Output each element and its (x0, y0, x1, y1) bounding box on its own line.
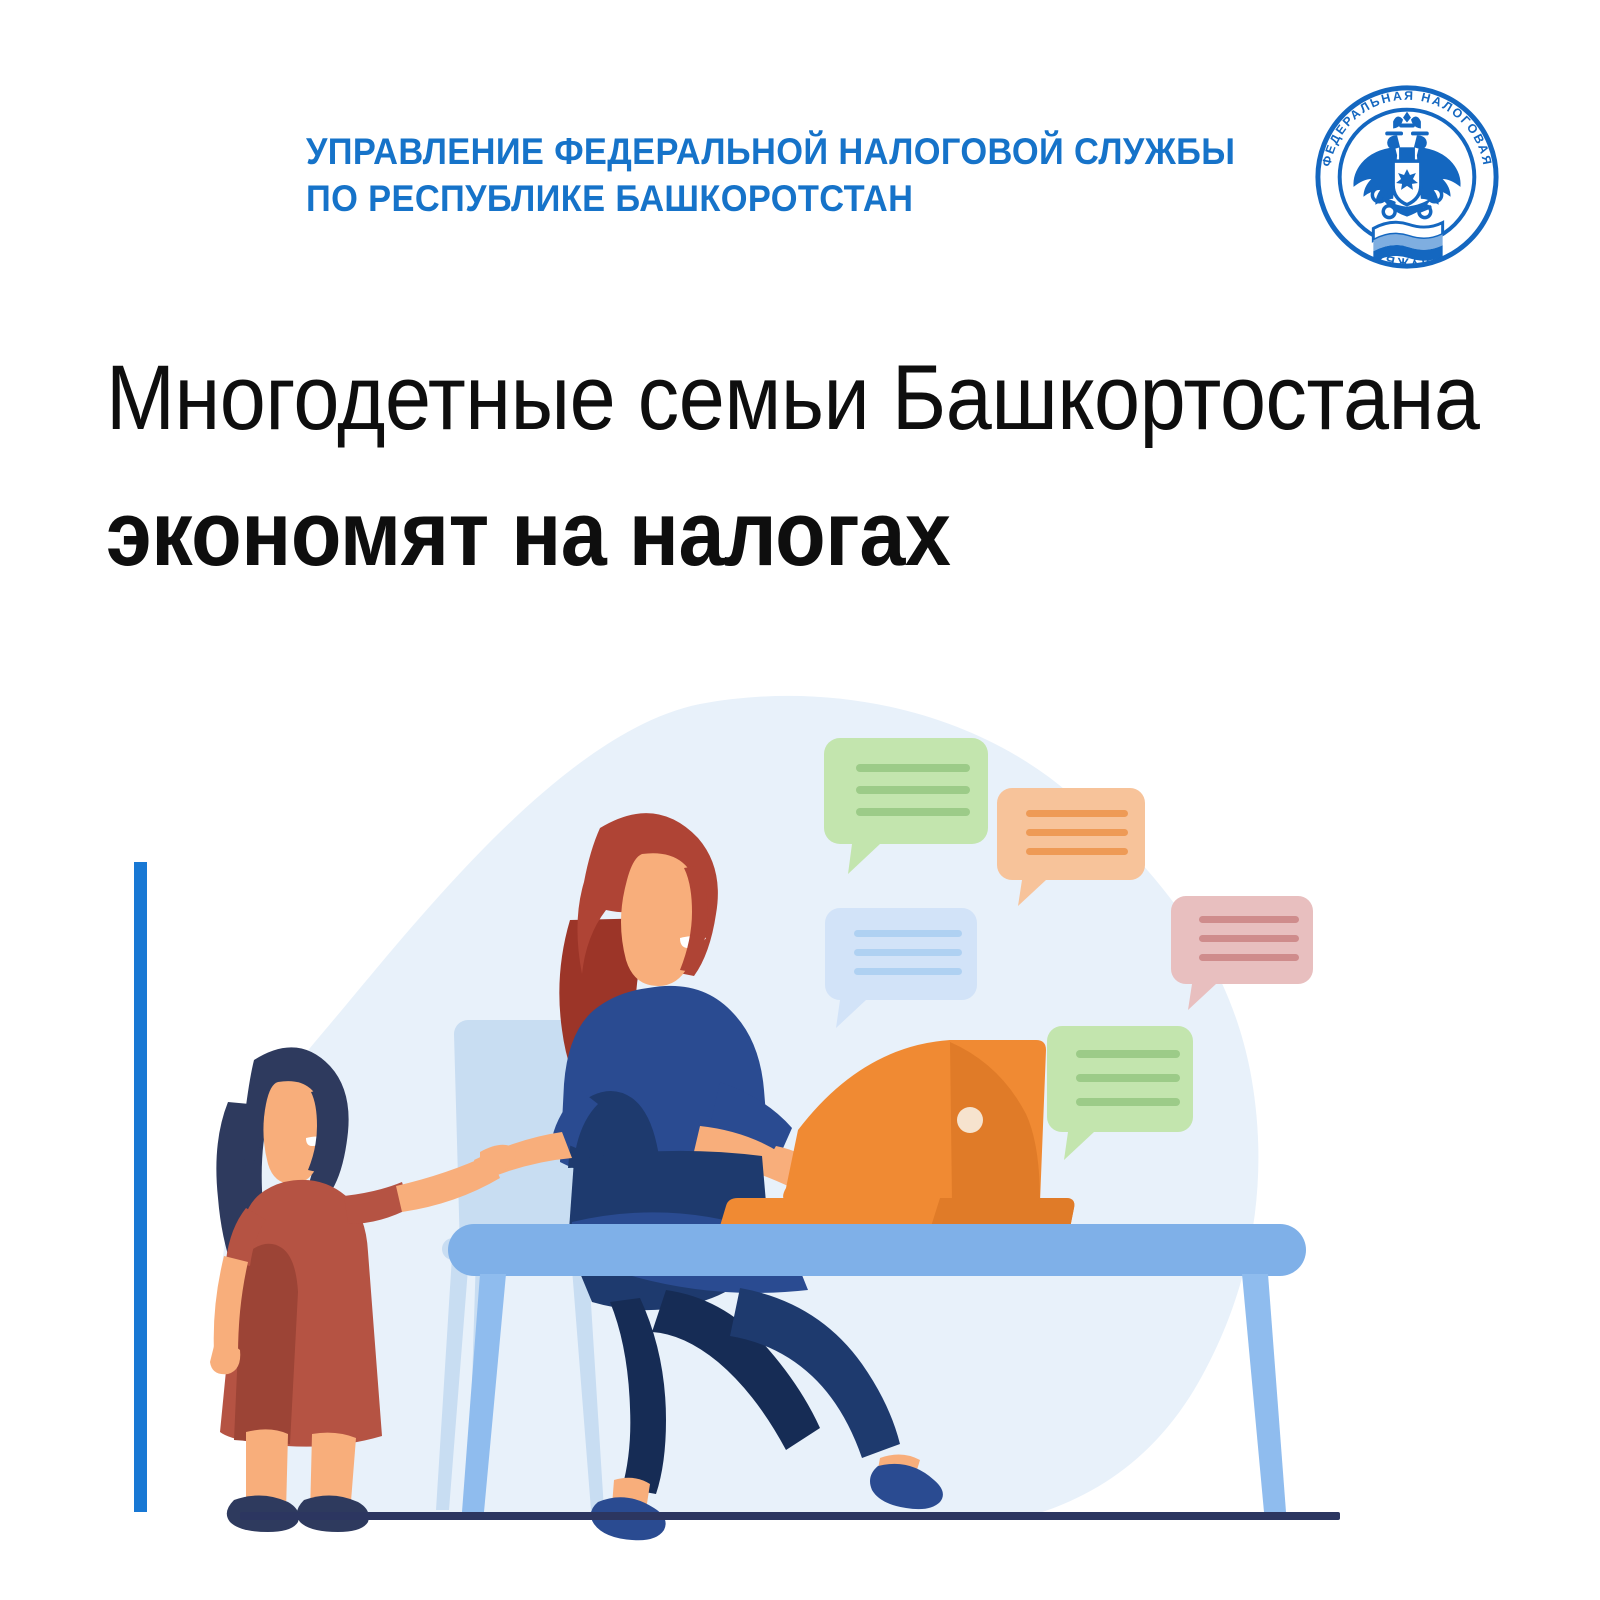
organization-title: УПРАВЛЕНИЕ ФЕДЕРАЛЬНОЙ НАЛОГОВОЙ СЛУЖБЫ … (306, 128, 1236, 222)
fns-emblem-icon: ФЕДЕРАЛЬНАЯ НАЛОГОВАЯ СЛУЖБА (1308, 78, 1506, 276)
speech-bubble-pink (1171, 896, 1313, 1010)
laptop-logo-icon (957, 1107, 983, 1133)
organization-title-line-1: УПРАВЛЕНИЕ ФЕДЕРАЛЬНОЙ НАЛОГОВОЙ СЛУЖБЫ (306, 128, 1236, 175)
accent-bar (134, 862, 147, 1512)
page-title: Многодетные семьи Башкортостана экономят… (106, 330, 1526, 602)
header: УПРАВЛЕНИЕ ФЕДЕРАЛЬНОЙ НАЛОГОВОЙ СЛУЖБЫ … (0, 0, 1600, 300)
desk-leg-right (1242, 1274, 1286, 1512)
page-title-line-2: экономят на налогах (106, 466, 1384, 602)
ground-line (240, 1512, 1340, 1520)
desk-top (448, 1224, 1306, 1276)
poster-canvas: УПРАВЛЕНИЕ ФЕДЕРАЛЬНОЙ НАЛОГОВОЙ СЛУЖБЫ … (0, 0, 1600, 1600)
organization-title-line-2: ПО РЕСПУБЛИКЕ БАШКОРОТСТАН (306, 175, 1236, 222)
page-title-line-1: Многодетные семьи Башкортостана (106, 330, 1384, 466)
mother-and-daughter-at-laptop-illustration (180, 690, 1420, 1550)
